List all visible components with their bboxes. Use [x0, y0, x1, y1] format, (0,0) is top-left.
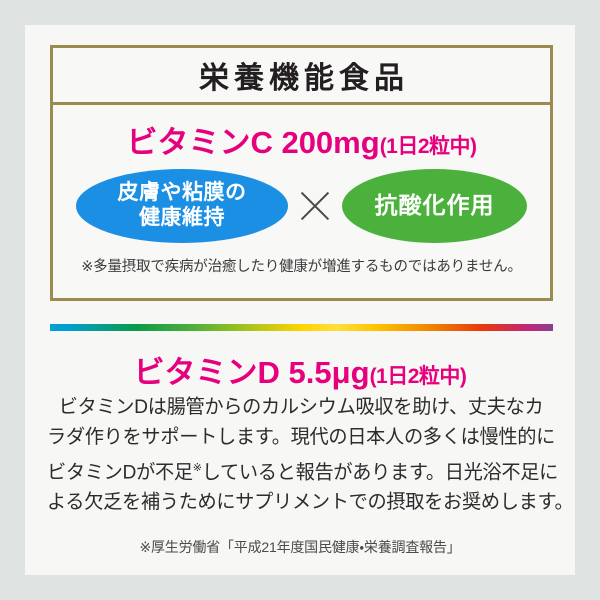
rainbow-divider: [50, 324, 553, 331]
vitamin-d-per-serving: (1日2粒中): [370, 365, 467, 388]
vitamin-c-amount: ビタミンC 200mg: [126, 125, 379, 160]
vitamin-d-amount: ビタミンD 5.5μg: [134, 355, 370, 390]
panel-body: ビタミンC 200mg(1日2粒中) 皮膚や粘膜の 健康維持 抗酸化作用 ※多量…: [53, 117, 550, 313]
description-line-1: ビタミンDは腸管からのカルシウム吸収を助け、丈夫なカ: [47, 393, 555, 423]
benefit-label-wrapper: 皮膚や粘膜の 健康維持: [118, 181, 247, 231]
description-line-3b: していると報告があります。日光浴不足に: [202, 462, 558, 483]
panel-title: 栄養機能食品: [194, 53, 409, 97]
vitamin-c-per-serving: (1日2粒中): [380, 135, 477, 158]
description-line-3: ビタミンDが不足※していると報告があります。日光浴不足に: [47, 453, 555, 488]
footnote-marker: ※: [193, 462, 202, 474]
product-info-card: 栄養機能食品 ビタミンC 200mg(1日2粒中) 皮膚や粘膜の 健康維持 抗酸…: [25, 25, 575, 575]
multiply-icon: [298, 189, 332, 223]
vitamin-c-disclaimer: ※多量摂取で疾病が治癒したり健康が増進するものではありません。: [53, 255, 550, 276]
source-footnote: ※厚生労働省「平成21年度国民健康・栄養調査報告」: [25, 537, 575, 557]
benefit-label-line1: 皮膚や粘膜の: [118, 181, 247, 204]
benefit-label-line2: 健康維持: [139, 206, 225, 229]
benefit-ellipse-skin-mucous: 皮膚や粘膜の 健康維持: [76, 169, 288, 243]
description-line-3a: ビタミンDが不足: [47, 462, 193, 483]
description-line-4: よる欠乏を補うためにサプリメントでの摂取をお奨めします。: [47, 488, 555, 518]
panel-header: 栄養機能食品: [53, 48, 550, 105]
description-line-2: ラダ作りをサポートします。現代の日本人の多くは慢性的に: [47, 423, 555, 453]
nutrient-function-panel: 栄養機能食品 ビタミンC 200mg(1日2粒中) 皮膚や粘膜の 健康維持 抗酸…: [50, 45, 553, 301]
benefit-group: 皮膚や粘膜の 健康維持 抗酸化作用: [53, 169, 550, 243]
vitamin-d-headline: ビタミンD 5.5μg(1日2粒中): [25, 347, 575, 392]
benefit-label-line1: 抗酸化作用: [375, 192, 495, 219]
vitamin-d-description: ビタミンDは腸管からのカルシウム吸収を助け、丈夫なカ ラダ作りをサポートします。…: [47, 393, 555, 518]
benefit-ellipse-antioxidant: 抗酸化作用: [342, 169, 527, 243]
vitamin-c-headline: ビタミンC 200mg(1日2粒中): [53, 117, 550, 162]
